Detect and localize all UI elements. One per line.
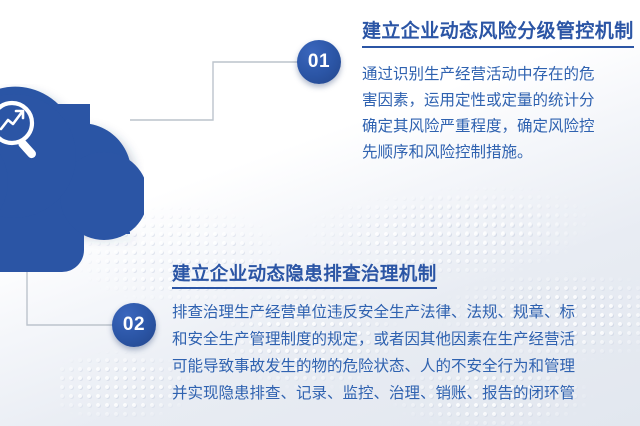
section-01-body: 通过识别生产经营活动中存在的危 害因素，运用定性或定量的统计分 确定其风险严重程… <box>362 62 640 166</box>
step-badge-02[interactable]: 02 <box>112 303 156 347</box>
dot-map-texture-upper <box>330 150 640 260</box>
section-02-body: 排查治理生产经营单位违反安全生产法律、法规、规章、标 和安全生产管理制度的规定，… <box>172 299 640 407</box>
section-01-body-line-2: 害因素，运用定性或定量的统计分 <box>362 88 640 114</box>
section-02: 建立企业动态隐患排查治理机制 排查治理生产经营单位违反安全生产法律、法规、规章、… <box>172 262 640 407</box>
section-02-title: 建立企业动态隐患排查治理机制 <box>172 262 437 289</box>
cloud-shape: 预防机制 <box>0 84 144 234</box>
step-badge-01[interactable]: 01 <box>297 40 341 84</box>
slide-canvas: 预防机制 01 02 建立企业动态风险分级管控机制 通过识别生产经营活动中存在的… <box>0 0 640 426</box>
cloud-label: 预防机制 <box>0 252 34 277</box>
section-02-body-line-4: 并实现隐患排查、记录、监控、治理、销账、报告的闭环管 <box>172 380 640 407</box>
step-badge-01-number: 01 <box>308 51 330 73</box>
step-badge-02-number: 02 <box>123 314 145 336</box>
section-02-body-line-1: 排查治理生产经营单位违反安全生产法律、法规、规章、标 <box>172 299 640 326</box>
magnifier-chart-icon <box>0 98 49 162</box>
section-01-body-line-1: 通过识别生产经营活动中存在的危 <box>362 62 640 88</box>
section-01-body-line-4: 先顺序和风险控制措施。 <box>362 140 640 166</box>
section-01-title: 建立企业动态风险分级管控机制 <box>362 20 634 48</box>
section-01: 建立企业动态风险分级管控机制 通过识别生产经营活动中存在的危 害因素，运用定性或… <box>362 20 640 166</box>
section-02-body-line-2: 和安全生产管理制度的规定，或者因其他因素在生产经营活 <box>172 326 640 353</box>
section-02-body-line-3: 可能导致事故发生的物的危险状态、人的不安全行为和管理 <box>172 353 640 380</box>
section-01-body-line-3: 确定其风险严重程度，确定风险控 <box>362 114 640 140</box>
